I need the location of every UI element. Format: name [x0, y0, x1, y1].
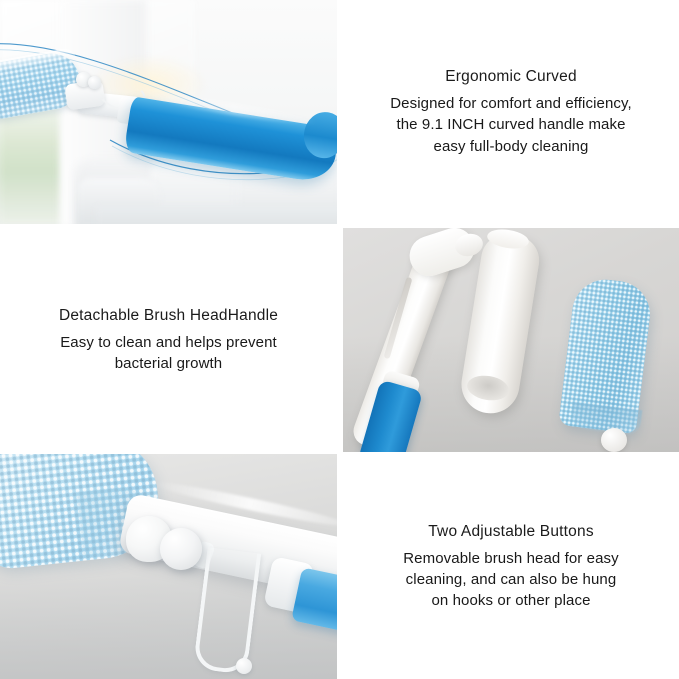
body-line: the 9.1 INCH curved handle make	[390, 114, 632, 135]
white-ball-tip	[601, 428, 627, 452]
panel-photo-disassembled-parts	[343, 228, 679, 452]
body-line: on hooks or other place	[403, 590, 619, 611]
body-line: easy full-body cleaning	[390, 136, 632, 157]
cord-knot	[236, 658, 252, 674]
body-detachable-brush-head: Easy to clean and helps prevent bacteria…	[60, 332, 277, 375]
headline-detachable-brush-head: Detachable Brush HeadHandle	[59, 306, 278, 327]
panel-text-two-adjustable-buttons: Two Adjustable Buttons Removable brush h…	[343, 454, 679, 679]
body-line: cleaning, and can also be hung	[403, 569, 619, 590]
body-line: bacterial growth	[60, 353, 277, 374]
product-infographic: Ergonomic Curved Designed for comfort an…	[0, 0, 679, 679]
panel-text-ergonomic-curved: Ergonomic Curved Designed for comfort an…	[343, 0, 679, 224]
panel-photo-adjustable-buttons	[0, 454, 337, 679]
body-line: Removable brush head for easy	[403, 548, 619, 569]
body-line: Easy to clean and helps prevent	[60, 332, 277, 353]
panel-photo-ergonomic-handle	[0, 0, 337, 224]
adjustable-button-two	[88, 76, 101, 89]
body-two-adjustable-buttons: Removable brush head for easy cleaning, …	[403, 548, 619, 612]
panel-text-detachable-brush-head: Detachable Brush HeadHandle Easy to clea…	[0, 228, 337, 452]
adjustable-button-two	[160, 528, 202, 570]
body-ergonomic-curved: Designed for comfort and efficiency, the…	[390, 93, 632, 157]
headline-ergonomic-curved: Ergonomic Curved	[445, 67, 577, 88]
body-line: Designed for comfort and efficiency,	[390, 93, 632, 114]
headline-two-adjustable-buttons: Two Adjustable Buttons	[428, 522, 594, 543]
